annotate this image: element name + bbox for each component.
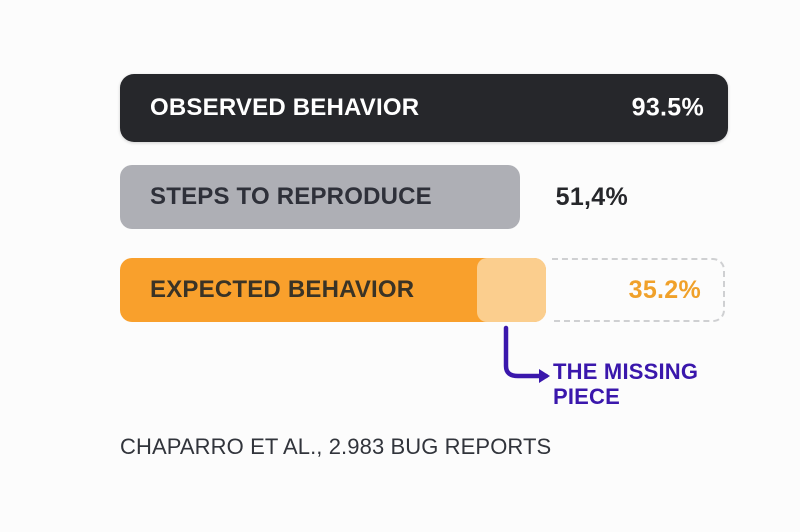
bar-row-observed-behavior: OBSERVED BEHAVIOR 93.5% — [120, 74, 728, 142]
chart-caption: CHAPARRO ET AL., 2.983 BUG REPORTS — [120, 434, 551, 460]
bar-label-expected-behavior: EXPECTED BEHAVIOR — [150, 278, 414, 302]
bar-row-steps-to-reproduce: STEPS TO REPRODUCE — [120, 165, 520, 229]
annotation-line-1: THE MISSING — [553, 359, 753, 384]
bar-fill-expected-behavior: EXPECTED BEHAVIOR — [120, 258, 546, 322]
bar-fill-steps-to-reproduce: STEPS TO REPRODUCE — [120, 165, 520, 229]
bar-row-expected-behavior: EXPECTED BEHAVIOR — [120, 258, 546, 322]
bar-label-steps-to-reproduce: STEPS TO REPRODUCE — [150, 185, 432, 209]
annotation-line-2: PIECE — [553, 384, 753, 409]
bar-value-observed-behavior: 93.5% — [632, 96, 704, 121]
bar-remainder-box-expected-behavior: 35.2% — [552, 258, 725, 322]
bar-value-expected-behavior: 35.2% — [629, 278, 701, 303]
bar-value-steps-to-reproduce: 51,4% — [508, 185, 628, 210]
bar-label-observed-behavior: OBSERVED BEHAVIOR — [150, 96, 419, 120]
bar-chart: OBSERVED BEHAVIOR 93.5% STEPS TO REPRODU… — [0, 0, 800, 532]
bar-highlight-segment-expected-behavior — [477, 258, 546, 322]
annotation-the-missing-piece: THE MISSING PIECE — [553, 359, 753, 409]
